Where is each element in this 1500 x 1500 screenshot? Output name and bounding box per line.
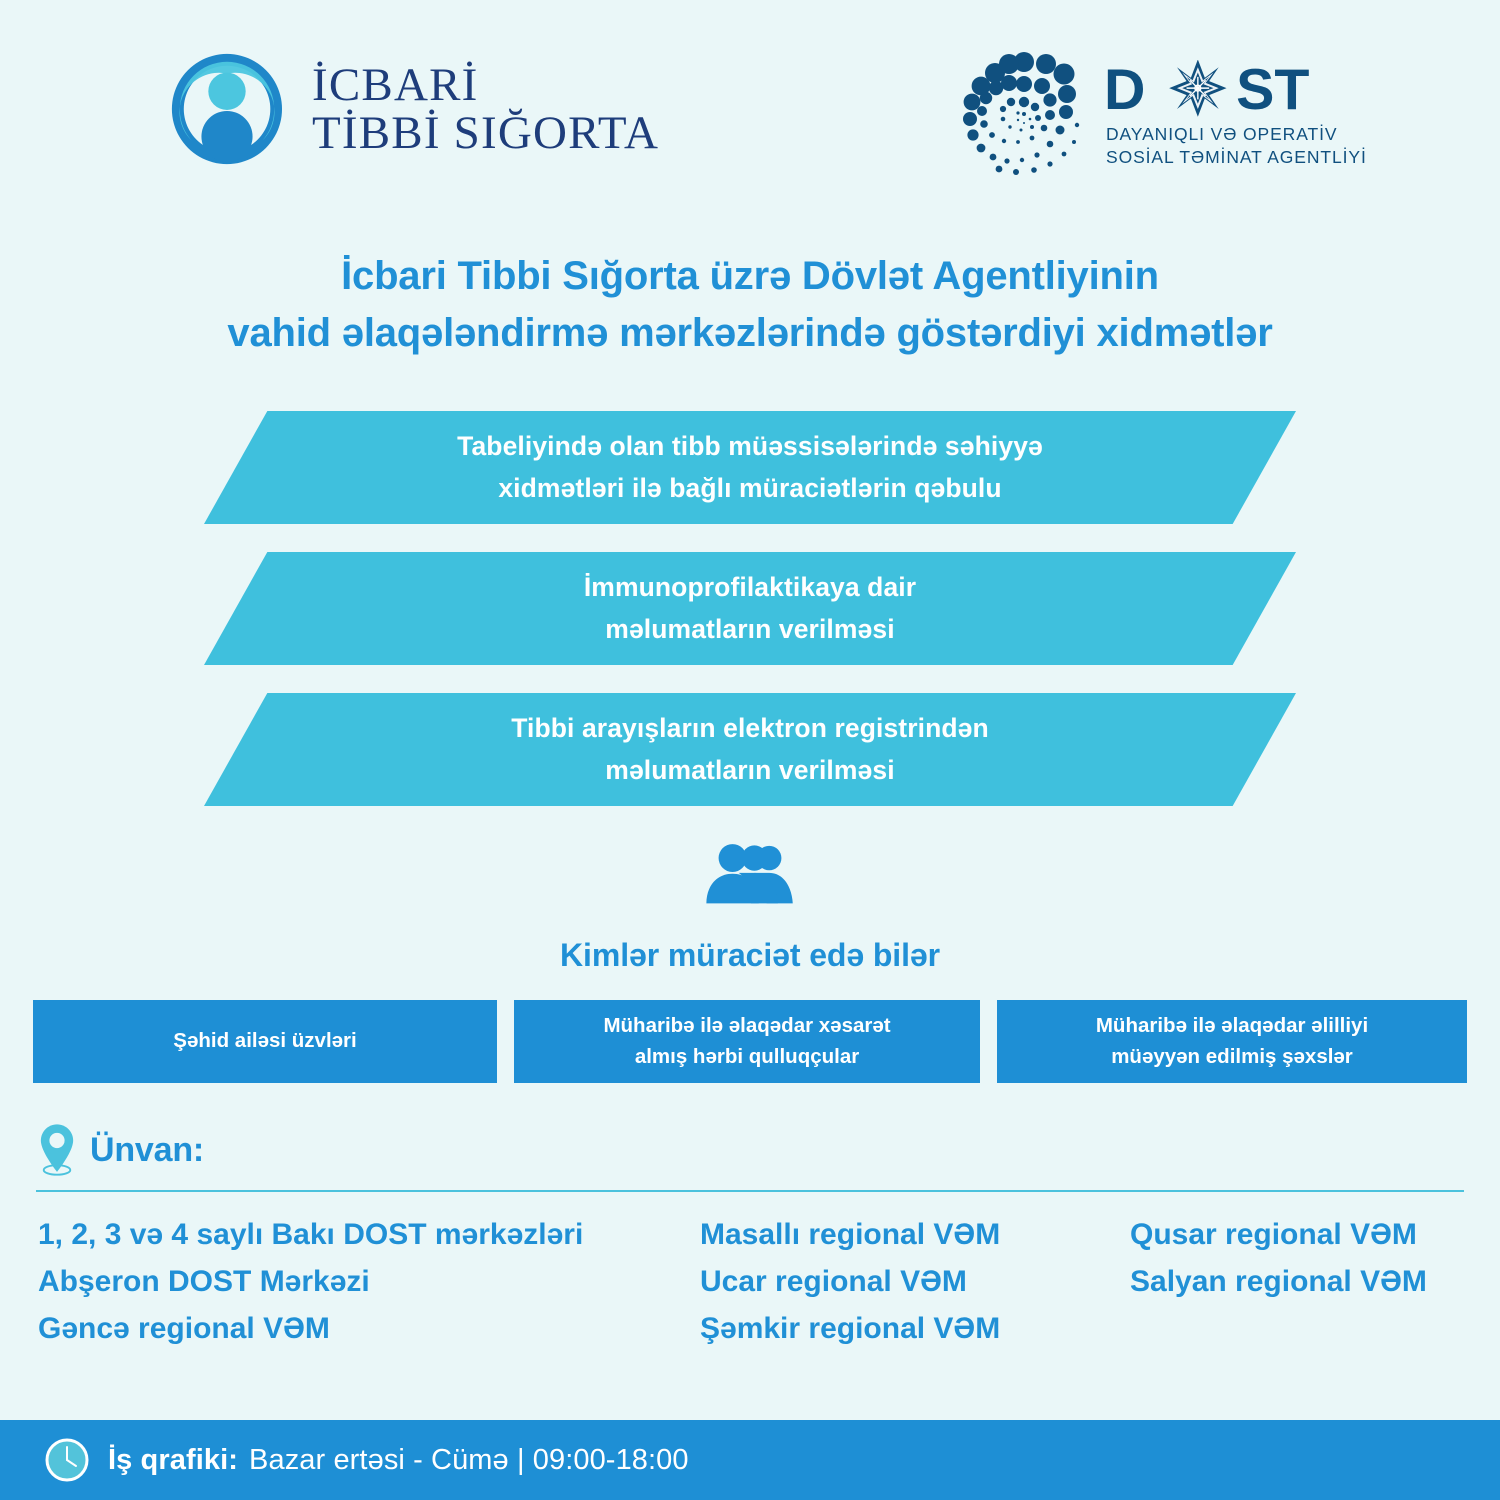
svg-text:ST: ST xyxy=(1236,60,1309,118)
logo-row: İCBARİ TİBBİ SIĞORTA xyxy=(0,44,1500,204)
service-banner: Tibbi arayışların elektron registrindən … xyxy=(204,693,1296,806)
service-line2: xidmətləri ilə bağlı müraciətlərin qəbul… xyxy=(498,468,1001,510)
dost-subtitle-line1: DAYANIQLI VƏ OPERATİV xyxy=(1106,123,1367,145)
service-banner-text: Tabeliyində olan tibb müəssisələrində sə… xyxy=(204,411,1296,524)
service-line1: Tibbi arayışların elektron registrindən xyxy=(511,708,989,750)
itv-logo: İCBARİ TİBBİ SIĞORTA xyxy=(168,50,659,168)
service-line2: məlumatların verilməsi xyxy=(605,609,894,651)
page-title-line2: vahid əlaqələndirmə mərkəzlərində göstər… xyxy=(0,305,1500,362)
service-banner: Tabeliyində olan tibb müəssisələrində sə… xyxy=(204,411,1296,524)
itv-logo-text: İCBARİ TİBBİ SIĞORTA xyxy=(312,61,659,158)
category-box: Müharibə ilə əlaqədar əlilliyi müəyyən e… xyxy=(997,1000,1467,1083)
who-can-apply-heading: Kimlər müraciət edə bilər xyxy=(0,937,1500,974)
svg-text:D: D xyxy=(1104,60,1145,118)
page-title-line1: İcbari Tibbi Sığorta üzrə Dövlət Agentli… xyxy=(0,248,1500,305)
clock-icon xyxy=(44,1437,90,1483)
dost-wordmark-block: D ST xyxy=(1104,60,1367,168)
schedule-bar: İş qrafiki: Bazar ertəsi - Cümə | 09:00-… xyxy=(0,1420,1500,1500)
dost-subtitle-line2: SOSİAL TƏMİNAT AGENTLİYİ xyxy=(1106,146,1367,168)
address-item: 1, 2, 3 və 4 saylı Bakı DOST mərkəzləri xyxy=(38,1212,700,1259)
address-item: Masallı regional VƏM xyxy=(700,1212,1130,1259)
service-banner: İmmunoprofilaktikaya dair məlumatların v… xyxy=(204,552,1296,665)
page-title: İcbari Tibbi Sığorta üzrə Dövlət Agentli… xyxy=(0,248,1500,362)
itv-logo-line2: TİBBİ SIĞORTA xyxy=(312,109,659,157)
category-line1: Şəhid ailəsi üzvləri xyxy=(173,1026,356,1056)
address-item: Salyan regional VƏM xyxy=(1130,1259,1460,1306)
address-header: Ünvan: xyxy=(38,1122,204,1178)
category-box: Şəhid ailəsi üzvləri xyxy=(33,1000,497,1083)
address-columns: 1, 2, 3 və 4 saylı Bakı DOST mərkəzləri … xyxy=(38,1212,1468,1352)
category-box: Müharibə ilə əlaqədar xəsarət almış hərb… xyxy=(514,1000,980,1083)
address-item: Gəncə regional VƏM xyxy=(38,1306,700,1353)
schedule-value: Bazar ertəsi - Cümə | 09:00-18:00 xyxy=(249,1446,689,1475)
category-row: Şəhid ailəsi üzvləri Müharibə ilə əlaqəd… xyxy=(33,1000,1467,1083)
itv-circle-person-logo xyxy=(168,50,286,168)
address-item: Ucar regional VƏM xyxy=(700,1259,1130,1306)
address-column: 1, 2, 3 və 4 saylı Bakı DOST mərkəzləri … xyxy=(38,1212,700,1352)
itv-logo-line1: İCBARİ xyxy=(312,61,659,109)
service-line2: məlumatların verilməsi xyxy=(605,750,894,792)
address-item: Şəmkir regional VƏM xyxy=(700,1306,1130,1353)
group-people-icon xyxy=(0,843,1500,915)
address-column: Qusar regional VƏM Salyan regional VƏM xyxy=(1130,1212,1460,1352)
address-item: Qusar regional VƏM xyxy=(1130,1212,1460,1259)
service-banner-text: İmmunoprofilaktikaya dair məlumatların v… xyxy=(204,552,1296,665)
schedule-label: İş qrafiki: xyxy=(108,1446,238,1475)
category-line1: Müharibə ilə əlaqədar əlilliyi xyxy=(1096,1011,1368,1041)
schedule-text: İş qrafiki: Bazar ertəsi - Cümə | 09:00-… xyxy=(108,1446,689,1475)
service-line1: İmmunoprofilaktikaya dair xyxy=(584,567,916,609)
service-banner-text: Tibbi arayışların elektron registrindən … xyxy=(204,693,1296,806)
dost-spiral-dots-logo xyxy=(962,50,1086,178)
dost-subtitle: DAYANIQLI VƏ OPERATİV SOSİAL TƏMİNAT AGE… xyxy=(1106,123,1367,168)
dost-logo: D ST xyxy=(962,50,1367,178)
address-label: Ünvan: xyxy=(90,1131,204,1170)
address-item: Abşeron DOST Mərkəzi xyxy=(38,1259,700,1306)
address-column: Masallı regional VƏM Ucar regional VƏM Ş… xyxy=(700,1212,1130,1352)
service-line1: Tabeliyində olan tibb müəssisələrində sə… xyxy=(457,426,1043,468)
eight-point-star-icon xyxy=(1169,60,1226,117)
address-divider xyxy=(36,1190,1464,1192)
category-line2: müəyyən edilmiş şəxslər xyxy=(1096,1042,1368,1072)
infographic-page: İCBARİ TİBBİ SIĞORTA xyxy=(0,0,1500,1500)
category-line2: almış hərbi qulluqçular xyxy=(603,1042,890,1072)
services-list: Tabeliyində olan tibb müəssisələrində sə… xyxy=(0,411,1500,834)
dost-wordmark: D ST xyxy=(1104,60,1367,118)
location-pin-icon xyxy=(38,1122,76,1178)
category-line1: Müharibə ilə əlaqədar xəsarət xyxy=(603,1011,890,1041)
